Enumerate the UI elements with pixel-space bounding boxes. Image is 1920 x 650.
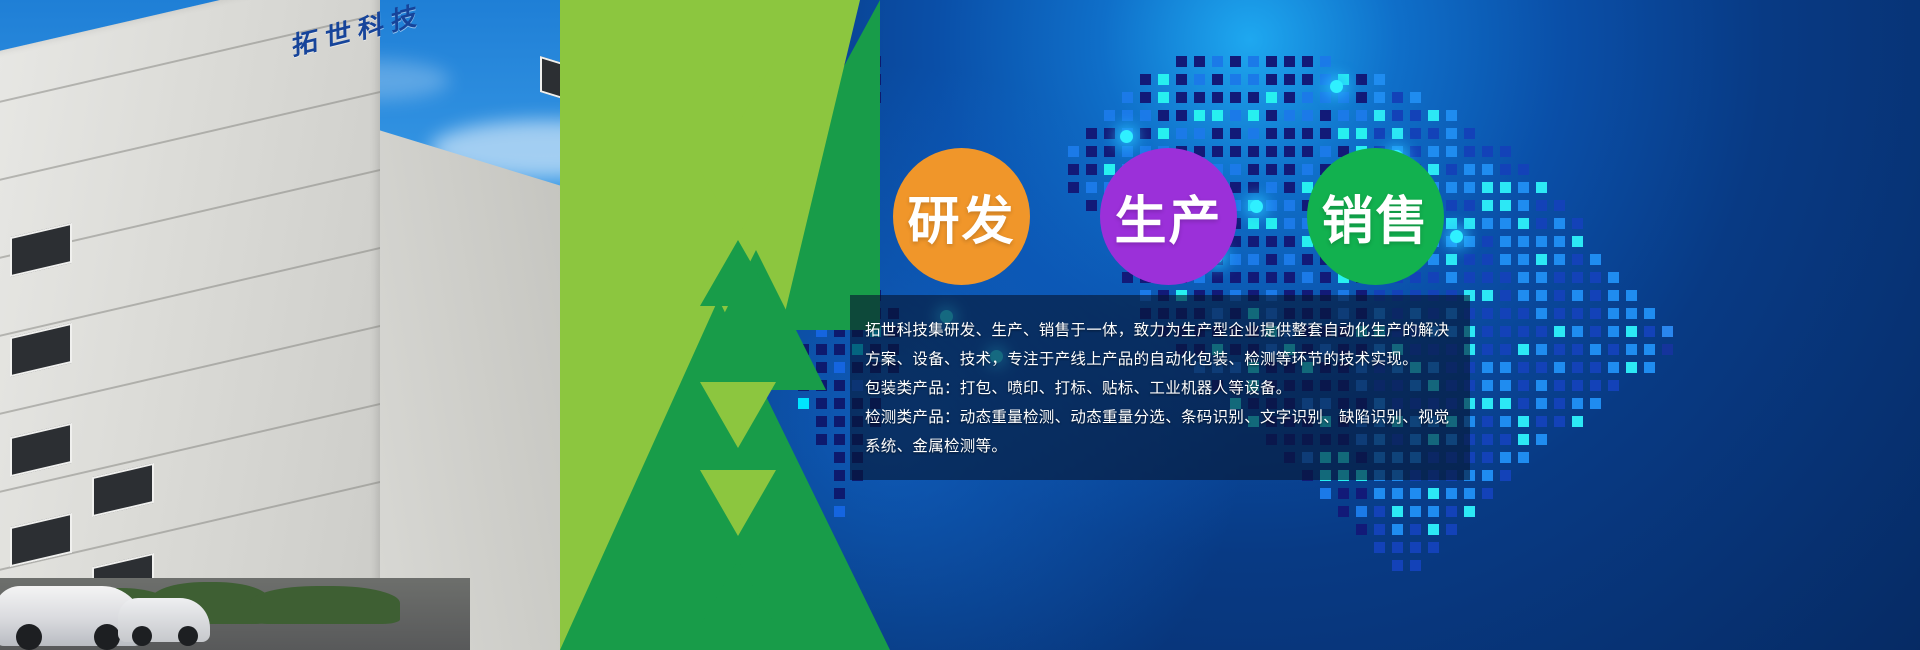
map-dot: [1572, 398, 1583, 409]
map-dot: [1302, 164, 1313, 175]
circle-rd[interactable]: 研发: [893, 148, 1030, 285]
map-dot: [1248, 110, 1259, 121]
map-dot: [1500, 362, 1511, 373]
map-dot: [1662, 326, 1673, 337]
map-dot: [1284, 218, 1295, 229]
map-dot: [1428, 506, 1439, 517]
map-dot: [1554, 416, 1565, 427]
map-dot: [1410, 488, 1421, 499]
map-dot: [1212, 110, 1223, 121]
map-dot: [1518, 218, 1529, 229]
map-dot: [1266, 200, 1277, 211]
map-dot: [1068, 182, 1079, 193]
map-dot: [1644, 326, 1655, 337]
map-dot: [1572, 218, 1583, 229]
map-dot: [1482, 416, 1493, 427]
map-dot: [1338, 488, 1349, 499]
map-dot: [1572, 362, 1583, 373]
map-dot: [1248, 182, 1259, 193]
map-dot: [1572, 254, 1583, 265]
map-dot: [1122, 92, 1133, 103]
map-glow-dot: [1120, 130, 1133, 143]
map-dot: [1392, 128, 1403, 139]
description-line: 方案、设备、技术，专注于产线上产品的自动化包装、检测等环节的技术实现。: [865, 345, 1465, 374]
map-dot: [1284, 110, 1295, 121]
map-dot: [1464, 236, 1475, 247]
map-dot: [834, 416, 845, 427]
map-dot: [1086, 200, 1097, 211]
map-dot: [1644, 344, 1655, 355]
map-dot: [1284, 74, 1295, 85]
map-dot: [1158, 92, 1169, 103]
map-dot: [1176, 56, 1187, 67]
map-dot: [1536, 344, 1547, 355]
green-triangle-up-2: [700, 560, 776, 626]
map-dot: [1464, 488, 1475, 499]
map-dot: [1536, 290, 1547, 301]
description-line: 拓世科技集研发、生产、销售于一体，致力为生产型企业提供整套自动化生产的解决: [865, 316, 1465, 345]
map-dot: [1104, 110, 1115, 121]
map-dot: [1410, 560, 1421, 571]
map-dot: [1374, 488, 1385, 499]
map-dot: [1500, 452, 1511, 463]
map-dot: [1410, 110, 1421, 121]
map-dot: [1500, 164, 1511, 175]
map-dot: [1482, 218, 1493, 229]
map-dot: [1572, 290, 1583, 301]
map-dot: [1482, 200, 1493, 211]
map-dot: [1230, 272, 1241, 283]
map-dot: [1518, 290, 1529, 301]
map-dot: [1500, 398, 1511, 409]
circle-rd-label: 研发: [907, 179, 1015, 254]
map-dot: [1356, 488, 1367, 499]
map-dot: [1518, 380, 1529, 391]
map-dot: [1590, 290, 1601, 301]
map-dot: [1230, 92, 1241, 103]
description-line: 检测类产品：动态重量检测、动态重量分选、条码识别、文字识别、缺陷识别、视觉: [865, 403, 1465, 432]
map-dot: [1536, 380, 1547, 391]
map-dot: [1302, 74, 1313, 85]
map-dot: [1500, 200, 1511, 211]
map-dot: [1374, 128, 1385, 139]
map-dot: [1266, 92, 1277, 103]
map-dot: [1500, 290, 1511, 301]
map-dot: [1140, 110, 1151, 121]
map-dot: [1302, 254, 1313, 265]
map-dot: [1464, 200, 1475, 211]
map-dot: [1536, 416, 1547, 427]
map-dot: [1284, 128, 1295, 139]
map-dot: [1320, 272, 1331, 283]
map-dot: [1518, 362, 1529, 373]
map-dot: [834, 506, 845, 517]
map-dot: [1590, 272, 1601, 283]
map-dot: [1590, 344, 1601, 355]
map-dot: [834, 488, 845, 499]
map-dot: [1392, 506, 1403, 517]
map-dot: [1518, 164, 1529, 175]
map-dot: [1392, 560, 1403, 571]
map-dot: [1338, 110, 1349, 121]
map-dot: [1212, 74, 1223, 85]
map-dot: [1500, 326, 1511, 337]
map-dot: [1104, 128, 1115, 139]
map-dot: [1482, 236, 1493, 247]
map-dot: [1284, 92, 1295, 103]
map-dot: [1392, 488, 1403, 499]
green-triangle-down-1: [700, 58, 776, 124]
map-dot: [1122, 110, 1133, 121]
map-dot: [1500, 272, 1511, 283]
map-dot: [1212, 92, 1223, 103]
map-dot: [1482, 326, 1493, 337]
map-dot: [1230, 254, 1241, 265]
map-dot: [1410, 542, 1421, 553]
map-dot: [1302, 92, 1313, 103]
map-dot: [1140, 92, 1151, 103]
map-dot: [1302, 56, 1313, 67]
map-dot: [1536, 200, 1547, 211]
map-dot: [798, 398, 809, 409]
map-dot: [1536, 434, 1547, 445]
map-dot: [1248, 146, 1259, 157]
description-line: 包装类产品：打包、喷印、打标、贴标、工业机器人等设备。: [865, 374, 1465, 403]
map-dot: [1554, 326, 1565, 337]
map-dot: [1410, 92, 1421, 103]
map-dot: [1554, 380, 1565, 391]
map-dot: [1104, 164, 1115, 175]
map-dot: [1266, 218, 1277, 229]
map-dot: [1428, 524, 1439, 535]
map-dot: [1626, 344, 1637, 355]
map-dot: [1518, 452, 1529, 463]
map-dot: [1302, 128, 1313, 139]
map-dot: [1356, 74, 1367, 85]
map-dot: [1320, 110, 1331, 121]
map-dot: [1194, 92, 1205, 103]
map-dot: [1590, 326, 1601, 337]
map-dot: [1590, 380, 1601, 391]
map-dot: [1554, 272, 1565, 283]
map-dot: [1572, 380, 1583, 391]
map-dot: [1482, 344, 1493, 355]
map-dot: [1464, 254, 1475, 265]
map-dot: [1536, 182, 1547, 193]
map-dot: [1320, 56, 1331, 67]
map-dot: [1518, 254, 1529, 265]
map-dot: [1518, 398, 1529, 409]
map-dot: [1194, 74, 1205, 85]
map-dot: [1662, 344, 1673, 355]
map-dot: [1626, 308, 1637, 319]
shrub: [250, 586, 400, 624]
map-dot: [1608, 308, 1619, 319]
map-dot: [1428, 488, 1439, 499]
map-dot: [1608, 272, 1619, 283]
map-dot: [1392, 542, 1403, 553]
map-dot: [1446, 128, 1457, 139]
green-triangle-up-1: [700, 240, 776, 306]
map-dot: [1518, 416, 1529, 427]
map-dot: [1554, 254, 1565, 265]
map-dot: [1068, 146, 1079, 157]
map-dot: [1446, 506, 1457, 517]
map-dot: [1212, 56, 1223, 67]
map-dot: [1536, 254, 1547, 265]
map-dot: [1572, 344, 1583, 355]
map-dot: [1176, 74, 1187, 85]
map-dot: [1518, 182, 1529, 193]
map-dot: [1122, 146, 1133, 157]
map-dot: [1518, 236, 1529, 247]
map-dot: [1212, 146, 1223, 157]
map-dot: [1320, 128, 1331, 139]
map-dot: [1626, 326, 1637, 337]
map-dot: [1284, 272, 1295, 283]
map-dot: [834, 344, 845, 355]
map-dot: [1536, 272, 1547, 283]
map-dot: [1086, 182, 1097, 193]
map-dot: [1266, 56, 1277, 67]
map-dot: [1446, 200, 1457, 211]
map-dot: [1266, 146, 1277, 157]
map-dot: [1554, 236, 1565, 247]
map-dot: [1428, 110, 1439, 121]
map-dot: [1356, 506, 1367, 517]
map-dot: [1554, 218, 1565, 229]
map-dot: [1572, 326, 1583, 337]
map-dot: [1500, 308, 1511, 319]
map-dot: [1266, 74, 1277, 85]
map-dot: [1482, 488, 1493, 499]
map-dot: [1284, 146, 1295, 157]
map-dot: [1410, 146, 1421, 157]
map-dot: [1320, 488, 1331, 499]
map-dot: [1374, 506, 1385, 517]
map-dot: [1608, 290, 1619, 301]
map-dot: [1320, 146, 1331, 157]
map-dot: [1500, 182, 1511, 193]
map-dot: [1500, 344, 1511, 355]
map-dot: [1500, 380, 1511, 391]
map-dot: [1500, 218, 1511, 229]
parked-car-second: [118, 598, 210, 642]
map-dot: [1590, 254, 1601, 265]
map-dot: [816, 398, 827, 409]
map-glow-dot: [1330, 80, 1343, 93]
map-dot: [1608, 362, 1619, 373]
map-dot: [1464, 182, 1475, 193]
map-dot: [1536, 398, 1547, 409]
map-dot: [1176, 110, 1187, 121]
map-dot: [1518, 344, 1529, 355]
map-dot: [1482, 452, 1493, 463]
map-dot: [1572, 236, 1583, 247]
map-dot: [834, 470, 845, 481]
map-dot: [1212, 272, 1223, 283]
map-dot: [1500, 146, 1511, 157]
map-dot: [1554, 200, 1565, 211]
map-dot: [1518, 326, 1529, 337]
map-dot: [1554, 398, 1565, 409]
map-dot: [1176, 128, 1187, 139]
map-dot: [1500, 236, 1511, 247]
map-glow-dot: [1450, 230, 1463, 243]
map-dot: [1446, 254, 1457, 265]
map-dot: [1500, 416, 1511, 427]
map-dot: [1248, 92, 1259, 103]
circle-production[interactable]: 生产: [1100, 148, 1237, 285]
map-dot: [834, 362, 845, 373]
map-dot: [1500, 470, 1511, 481]
map-dot: [1464, 272, 1475, 283]
map-dot: [1212, 128, 1223, 139]
map-dot: [1482, 398, 1493, 409]
map-dot: [1410, 506, 1421, 517]
map-dot: [1554, 308, 1565, 319]
map-dot: [1464, 164, 1475, 175]
map-dot: [1356, 92, 1367, 103]
circle-sales[interactable]: 销售: [1307, 148, 1444, 285]
map-dot: [1482, 254, 1493, 265]
map-dot: [1446, 488, 1457, 499]
map-dot: [816, 434, 827, 445]
map-dot: [1572, 308, 1583, 319]
map-dot: [1482, 380, 1493, 391]
map-dot: [1248, 272, 1259, 283]
map-dot: [1158, 110, 1169, 121]
map-dot: [1446, 164, 1457, 175]
map-dot: [1266, 164, 1277, 175]
map-dot: [1536, 326, 1547, 337]
map-dot: [1428, 146, 1439, 157]
map-dot: [1068, 164, 1079, 175]
map-dot: [834, 452, 845, 463]
map-dot: [1554, 290, 1565, 301]
map-dot: [1284, 236, 1295, 247]
map-dot: [1374, 542, 1385, 553]
map-dot: [1590, 398, 1601, 409]
map-dot: [1446, 110, 1457, 121]
map-dot: [1104, 146, 1115, 157]
map-dot: [1230, 146, 1241, 157]
map-dot: [1572, 416, 1583, 427]
map-dot: [1482, 470, 1493, 481]
map-dot: [1248, 56, 1259, 67]
description-line: 系统、金属检测等。: [865, 432, 1465, 461]
map-dot: [1482, 434, 1493, 445]
green-triangle-down-2: [700, 170, 776, 236]
map-dot: [1302, 272, 1313, 283]
map-dot: [1482, 164, 1493, 175]
map-dot: [1644, 308, 1655, 319]
map-dot: [1482, 362, 1493, 373]
map-dot: [834, 380, 845, 391]
map-dot: [1266, 182, 1277, 193]
map-dot: [1248, 128, 1259, 139]
circle-sales-label: 销售: [1321, 179, 1429, 254]
map-dot: [1356, 110, 1367, 121]
map-dot: [1482, 182, 1493, 193]
map-dot: [1446, 182, 1457, 193]
map-dot: [1374, 92, 1385, 103]
green-triangle-down-3: [700, 382, 776, 448]
company-profile-banner: 拓世科技 研发 生产 销售 拓世科技集研发、生产、销售于一体，致力为生产型企业提…: [0, 0, 1920, 650]
map-dot: [1608, 380, 1619, 391]
map-dot: [1446, 524, 1457, 535]
map-dot: [1518, 272, 1529, 283]
map-dot: [1464, 218, 1475, 229]
map-dot: [1446, 272, 1457, 283]
map-glow-dot: [1250, 200, 1263, 213]
map-dot: [1248, 74, 1259, 85]
map-dot: [1410, 128, 1421, 139]
map-dot: [1518, 200, 1529, 211]
map-dot: [1626, 290, 1637, 301]
map-dot: [1266, 110, 1277, 121]
map-dot: [1392, 110, 1403, 121]
map-dot: [1302, 146, 1313, 157]
map-dot: [1284, 164, 1295, 175]
map-dot: [1482, 308, 1493, 319]
map-dot: [1590, 362, 1601, 373]
map-dot: [1230, 128, 1241, 139]
map-dot: [1194, 110, 1205, 121]
map-dot: [1086, 164, 1097, 175]
map-dot: [1158, 74, 1169, 85]
circle-production-label: 生产: [1114, 179, 1222, 254]
map-dot: [1158, 128, 1169, 139]
map-dot: [1230, 110, 1241, 121]
map-dot: [1410, 524, 1421, 535]
map-dot: [1086, 146, 1097, 157]
map-dot: [1266, 272, 1277, 283]
map-dot: [1482, 290, 1493, 301]
map-dot: [1284, 254, 1295, 265]
map-dot: [1590, 308, 1601, 319]
map-dot: [1086, 128, 1097, 139]
map-dot: [1266, 128, 1277, 139]
map-dot: [1464, 506, 1475, 517]
map-dot: [1194, 56, 1205, 67]
map-dot: [1248, 218, 1259, 229]
map-dot: [1140, 74, 1151, 85]
map-dot: [1374, 524, 1385, 535]
green-triangle-down-4: [700, 470, 776, 536]
map-dot: [816, 344, 827, 355]
map-dot: [1500, 254, 1511, 265]
map-dot: [1428, 164, 1439, 175]
map-dot: [1482, 146, 1493, 157]
map-dot: [1626, 362, 1637, 373]
description-text: 拓世科技集研发、生产、销售于一体，致力为生产型企业提供整套自动化生产的解决方案、…: [865, 316, 1465, 461]
map-dot: [834, 398, 845, 409]
map-dot: [816, 362, 827, 373]
map-dot: [1500, 434, 1511, 445]
map-dot: [1518, 434, 1529, 445]
map-dot: [1374, 74, 1385, 85]
map-dot: [1554, 362, 1565, 373]
map-dot: [1320, 74, 1331, 85]
map-dot: [1428, 128, 1439, 139]
map-dot: [1194, 128, 1205, 139]
map-dot: [1446, 146, 1457, 157]
map-dot: [1338, 128, 1349, 139]
map-dot: [1248, 164, 1259, 175]
map-dot: [1302, 110, 1313, 121]
map-dot: [1284, 56, 1295, 67]
